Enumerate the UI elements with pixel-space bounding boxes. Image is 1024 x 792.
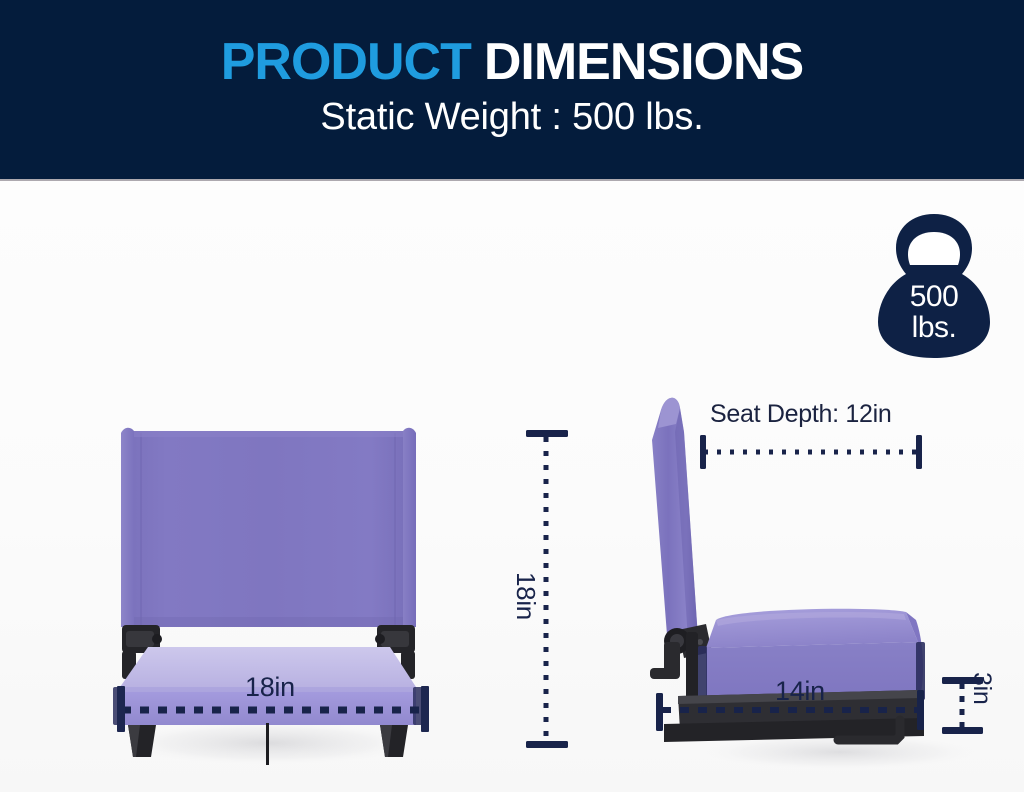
static-weight-badge: 500 lbs.	[872, 210, 996, 360]
kettlebell-icon	[872, 210, 996, 360]
product-dimensions-infographic: PRODUCT DIMENSIONS Static Weight : 500 l…	[0, 0, 1024, 792]
front-center-post	[266, 723, 269, 765]
header-content: PRODUCT DIMENSIONS Static Weight : 500 l…	[0, 0, 1024, 179]
side-view-stadium-chair	[620, 380, 1000, 770]
side-backrest	[652, 398, 698, 648]
dimension-label-seat-height: 3in	[967, 672, 996, 704]
header-banner: PRODUCT DIMENSIONS Static Weight : 500 l…	[0, 0, 1024, 179]
title-word-dimensions: DIMENSIONS	[484, 36, 803, 89]
dimension-label-seat-width: 18in	[245, 672, 295, 703]
title-word-product: PRODUCT	[221, 36, 471, 89]
front-view-stadium-chair	[80, 395, 450, 765]
front-backrest	[121, 428, 416, 627]
dimension-label-overall-height: 18in	[510, 572, 541, 620]
dimension-label-seat-depth: Seat Depth: 12in	[710, 400, 891, 429]
header-subtitle: Static Weight : 500 lbs.	[320, 96, 703, 139]
dimension-label-seat-length: 14in	[775, 676, 825, 707]
page-title: PRODUCT DIMENSIONS	[221, 36, 803, 89]
